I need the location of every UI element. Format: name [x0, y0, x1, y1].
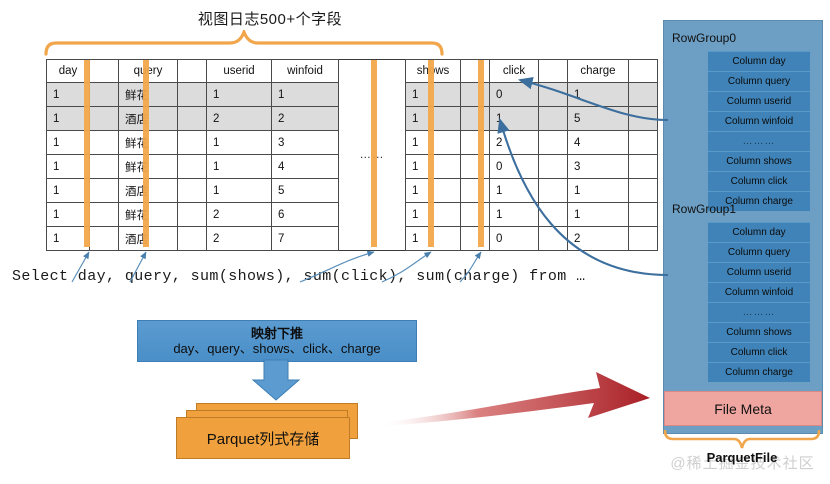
column-chunk-bar: Column click — [708, 171, 810, 191]
column-spacer — [461, 60, 490, 83]
cell-winfoid: 6 — [272, 203, 339, 227]
mapping-pushdown-box: 映射下推 day、query、shows、click、charge — [137, 320, 417, 362]
column-chunk-bar: Column userid — [708, 91, 810, 111]
highlight-bar-charge — [478, 60, 484, 247]
parquet-storage-box: Parquet列式存储 — [176, 417, 350, 459]
highlight-bar-shows — [371, 60, 377, 247]
column-spacer — [178, 60, 207, 83]
column-spacer — [178, 83, 207, 107]
highlight-bar-query — [143, 60, 149, 247]
column-chunk-bar: Column query — [708, 242, 810, 262]
column-spacer — [629, 131, 658, 155]
column-spacer — [461, 107, 490, 131]
cell-charge: 5 — [568, 107, 629, 131]
column-spacer — [178, 155, 207, 179]
cell-userid: 2 — [207, 107, 272, 131]
column-spacer — [90, 155, 119, 179]
column-spacer — [90, 227, 119, 251]
cell-charge: 2 — [568, 227, 629, 251]
column-chunk-bar: Column winfoid — [708, 111, 810, 131]
column-header-charge: charge — [568, 60, 629, 83]
cell-userid: 1 — [207, 131, 272, 155]
column-chunk-bar: Column userid — [708, 262, 810, 282]
parquet-file-panel: RowGroup0Column dayColumn queryColumn us… — [663, 20, 823, 434]
parquet-file-label: ParquetFile — [663, 450, 821, 465]
column-header-userid: userid — [207, 60, 272, 83]
parquet-file-brace-icon — [662, 430, 822, 450]
column-spacer — [461, 179, 490, 203]
cell-click: 0 — [490, 83, 539, 107]
column-spacer — [539, 155, 568, 179]
column-spacer — [539, 107, 568, 131]
cell-click: 2 — [490, 131, 539, 155]
cell-winfoid: 3 — [272, 131, 339, 155]
column-spacer — [461, 203, 490, 227]
cell-winfoid: 1 — [272, 83, 339, 107]
cell-userid: 1 — [207, 155, 272, 179]
column-spacer — [539, 83, 568, 107]
cell-charge: 1 — [568, 83, 629, 107]
column-chunk-bar: Column shows — [708, 151, 810, 171]
cell-userid: 1 — [207, 179, 272, 203]
column-chunk-bar: ……… — [708, 302, 810, 322]
column-spacer — [90, 107, 119, 131]
column-spacer — [539, 60, 568, 83]
column-chunk-bar: ……… — [708, 131, 810, 151]
column-spacer — [539, 227, 568, 251]
column-spacer — [90, 179, 119, 203]
cell-click: 0 — [490, 227, 539, 251]
cell-winfoid: 2 — [272, 107, 339, 131]
column-spacer — [539, 179, 568, 203]
column-spacer — [178, 227, 207, 251]
column-spacer — [539, 131, 568, 155]
column-spacer — [629, 155, 658, 179]
column-chunk-bar: Column winfoid — [708, 282, 810, 302]
pushdown-columns: day、query、shows、click、charge — [138, 341, 416, 357]
column-spacer — [90, 203, 119, 227]
column-header-winfoid: winfoid — [272, 60, 339, 83]
cell-click: 1 — [490, 203, 539, 227]
highlight-bar-click — [428, 60, 434, 247]
cell-click: 1 — [490, 179, 539, 203]
log-table-body: dayqueryuseridwinfoid……showsclickcharge1… — [47, 60, 658, 251]
column-chunk-bar: Column click — [708, 342, 810, 362]
cell-winfoid: 5 — [272, 179, 339, 203]
column-chunk-bar: Column charge — [708, 362, 810, 382]
table-header-row: dayqueryuseridwinfoid……showsclickcharge — [47, 60, 658, 83]
column-spacer — [178, 203, 207, 227]
column-spacer — [461, 155, 490, 179]
cell-userid: 1 — [207, 83, 272, 107]
rowgroup-label: RowGroup1 — [672, 202, 736, 216]
cell-click: 0 — [490, 155, 539, 179]
column-chunk-bar: Column day — [708, 222, 810, 242]
cell-winfoid: 7 — [272, 227, 339, 251]
column-spacer — [629, 60, 658, 83]
highlight-bar-day — [84, 60, 90, 247]
column-spacer — [629, 83, 658, 107]
cell-click: 1 — [490, 107, 539, 131]
column-spacer — [461, 83, 490, 107]
column-spacer — [90, 131, 119, 155]
column-header-click: click — [490, 60, 539, 83]
column-spacer — [178, 179, 207, 203]
column-spacer — [629, 179, 658, 203]
column-spacer — [178, 131, 207, 155]
column-spacer — [461, 131, 490, 155]
cell-charge: 4 — [568, 131, 629, 155]
column-spacer — [539, 203, 568, 227]
column-chunk-bar: Column query — [708, 71, 810, 91]
page-title: 视图日志500+个字段 — [170, 8, 370, 29]
column-spacer — [178, 107, 207, 131]
column-spacer — [461, 227, 490, 251]
column-spacer — [629, 107, 658, 131]
log-table: dayqueryuseridwinfoid……showsclickcharge1… — [46, 59, 658, 251]
column-spacer — [629, 203, 658, 227]
cell-charge: 3 — [568, 155, 629, 179]
cell-winfoid: 4 — [272, 155, 339, 179]
cell-userid: 2 — [207, 203, 272, 227]
cell-userid: 2 — [207, 227, 272, 251]
column-spacer — [90, 60, 119, 83]
column-spacer — [629, 227, 658, 251]
column-spacer — [90, 83, 119, 107]
rowgroup-label: RowGroup0 — [672, 31, 736, 45]
top-brace-icon — [44, 30, 444, 56]
file-meta-box: File Meta — [664, 391, 822, 426]
cell-charge: 1 — [568, 203, 629, 227]
cell-charge: 1 — [568, 179, 629, 203]
column-chunk-bar: Column shows — [708, 322, 810, 342]
pushdown-title: 映射下推 — [138, 326, 416, 341]
sql-statement: Select day, query, sum(shows), sum(click… — [12, 268, 586, 285]
column-chunk-bar: Column day — [708, 51, 810, 71]
